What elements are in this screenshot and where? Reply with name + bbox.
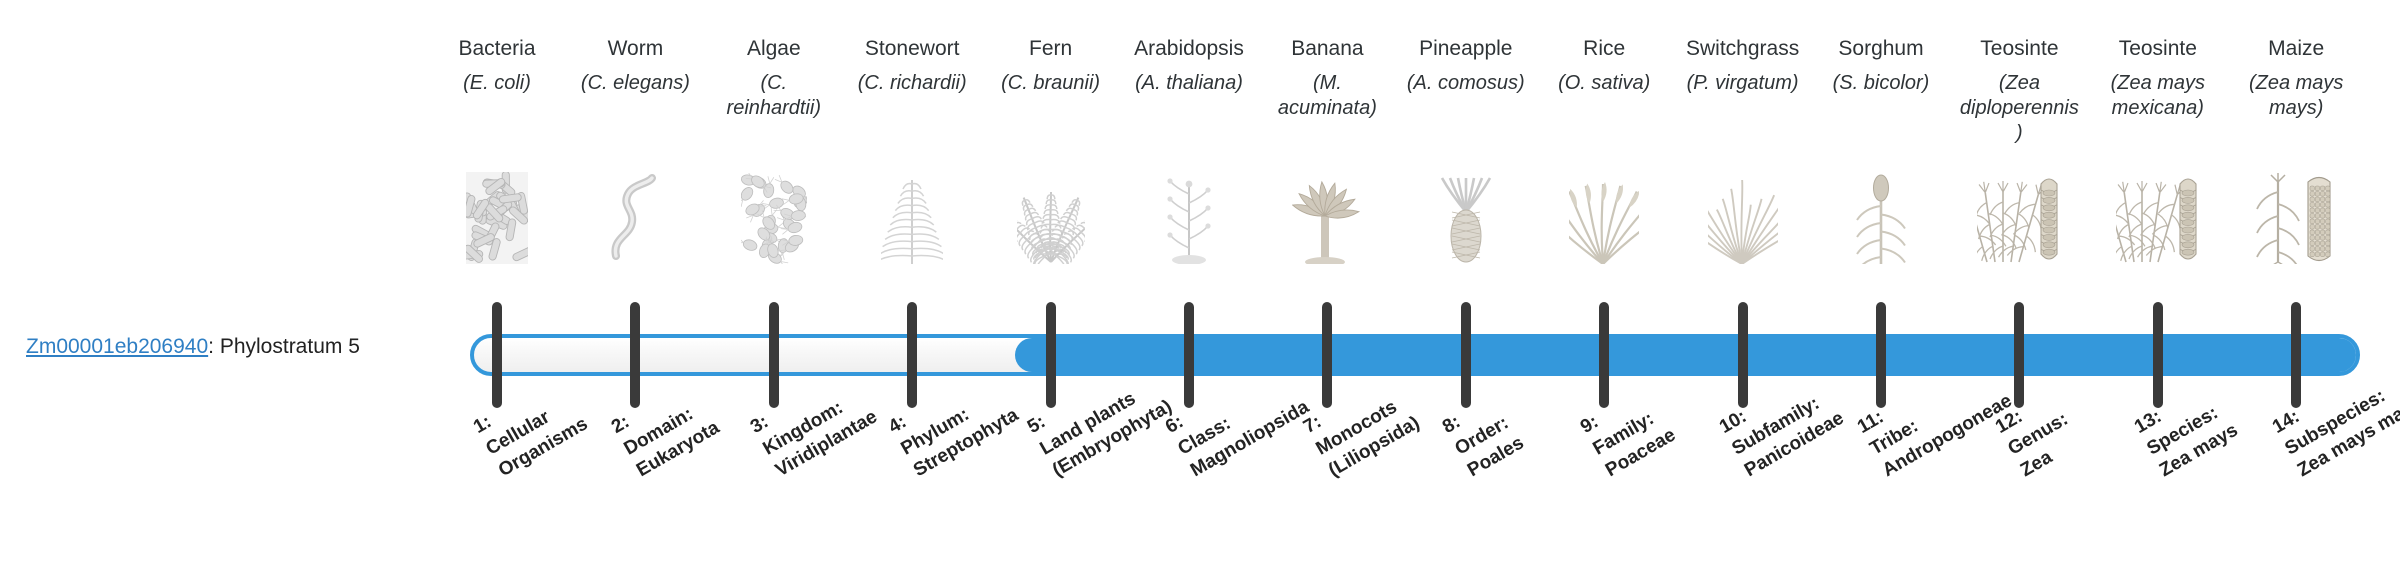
stratum-name: Cellular Organisms (483, 407, 592, 482)
phylostratum-text: : Phylostratum 5 (208, 335, 360, 358)
species-column: Pineapple(A. comosus) (1404, 36, 1528, 96)
stratum-number: 2: (608, 411, 633, 438)
species-common-name: Bacteria (435, 36, 559, 61)
stratum-name: Kingdom: Viridiplantae (759, 397, 880, 481)
maize-plant-and-ear-illustration (2234, 168, 2358, 264)
stratum-name: Subfamily: Panicoideae (1728, 393, 1847, 481)
species-column: Arabidopsis(A. thaliana) (1127, 36, 1251, 96)
stratum-name: Domain: Eukaryota (621, 403, 724, 481)
pineapple-illustration (1404, 168, 1528, 264)
species-column: Algae(C. reinhardtii) (712, 36, 836, 121)
species-common-name: Rice (1542, 36, 1666, 61)
species-scientific-name: (M. acuminata) (1265, 71, 1389, 121)
species-scientific-name: (P. virgatum) (1681, 71, 1805, 96)
species-column: Bacteria(E. coli) (435, 36, 559, 96)
species-column: Worm(C. elegans) (573, 36, 697, 96)
banana-plant-illustration (1265, 168, 1389, 264)
stratum-name: Phylum: Streptophyta (898, 404, 1022, 481)
species-column: Fern(C. braunii) (989, 36, 1113, 96)
stratum-name: Family: Poaceae (1590, 408, 1680, 481)
teosinte-plant-and-ear-illustration (1957, 168, 2081, 264)
species-column: Switchgrass(P. virgatum) (1681, 36, 1805, 96)
stratum-number: 1: (470, 411, 495, 438)
species-common-name: Teosinte (2096, 36, 2220, 61)
species-common-name: Maize (2234, 36, 2358, 61)
stonewort-illustration (850, 168, 974, 264)
species-common-name: Algae (712, 36, 836, 61)
phylostratum-figure: Zm00001eb206940: Phylostratum 5 Bacteria… (0, 0, 2400, 580)
species-common-name: Sorghum (1819, 36, 1943, 61)
species-column: Maize(Zea mays mays) (2234, 36, 2358, 121)
stratum-number: 7: (1300, 411, 1325, 438)
species-column: Rice(O. sativa) (1542, 36, 1666, 96)
gene-phylostratum-label: Zm00001eb206940: Phylostratum 5 (26, 334, 306, 360)
algae-cells-illustration (712, 168, 836, 264)
species-scientific-name: (C. reinhardtii) (712, 71, 836, 121)
species-common-name: Arabidopsis (1127, 36, 1251, 61)
species-scientific-name: (Zea diploperennis) (1957, 71, 2081, 146)
stratum-number: 3: (747, 411, 772, 438)
species-scientific-name: (C. braunii) (989, 71, 1113, 96)
species-common-name: Worm (573, 36, 697, 61)
fern-illustration (989, 168, 1113, 264)
species-scientific-name: (S. bicolor) (1819, 71, 1943, 96)
species-common-name: Banana (1265, 36, 1389, 61)
species-scientific-name: (A. comosus) (1404, 71, 1528, 96)
stratum-number: 5: (1024, 411, 1049, 438)
arabidopsis-illustration (1127, 168, 1251, 264)
species-scientific-name: (C. richardii) (850, 71, 974, 96)
stratum-name: Subspecies: Zea mays mays (2282, 385, 2400, 481)
nematode-illustration (573, 168, 697, 264)
stratum-number: 9: (1577, 411, 1602, 438)
species-scientific-name: (C. elegans) (573, 71, 697, 96)
stratum-name: Tribe: Andropogoneae (1867, 390, 2016, 481)
stratum-name: Class: Magnoliopsida (1175, 397, 1313, 482)
species-column: Banana(M. acuminata) (1265, 36, 1389, 121)
bacteria-illustration (435, 168, 559, 264)
species-scientific-name: (Zea mays mays) (2234, 71, 2358, 121)
switchgrass-illustration (1681, 168, 1805, 264)
teosinte-plant-and-ear-illustration (2096, 168, 2220, 264)
gene-id-link[interactable]: Zm00001eb206940 (26, 335, 208, 358)
species-scientific-name: (A. thaliana) (1127, 71, 1251, 96)
stratum-number: 8: (1439, 411, 1464, 438)
species-scientific-name: (O. sativa) (1542, 71, 1666, 96)
stratum-name: Monocots (Liliopsida) (1313, 397, 1424, 482)
species-common-name: Switchgrass (1681, 36, 1805, 61)
species-scientific-name: (Zea mays mexicana) (2096, 71, 2220, 121)
species-column: Teosinte(Zea diploperennis) (1957, 36, 2081, 146)
species-column: Stonewort(C. richardii) (850, 36, 974, 96)
sorghum-illustration (1819, 168, 1943, 264)
stratum-number: 4: (885, 411, 910, 438)
species-common-name: Pineapple (1404, 36, 1528, 61)
species-common-name: Stonewort (850, 36, 974, 61)
stratum-number: 6: (1162, 411, 1187, 438)
species-column: Teosinte(Zea mays mexicana) (2096, 36, 2220, 121)
species-column: Sorghum(S. bicolor) (1819, 36, 1943, 96)
species-common-name: Teosinte (1957, 36, 2081, 61)
phylostratum-tick[interactable] (492, 302, 502, 408)
rice-plant-illustration (1542, 168, 1666, 264)
stratum-name: Order: Poales (1451, 412, 1527, 481)
stratum-name: Land plants (Embryophyta) (1036, 388, 1175, 481)
species-scientific-name: (E. coli) (435, 71, 559, 96)
species-common-name: Fern (989, 36, 1113, 61)
